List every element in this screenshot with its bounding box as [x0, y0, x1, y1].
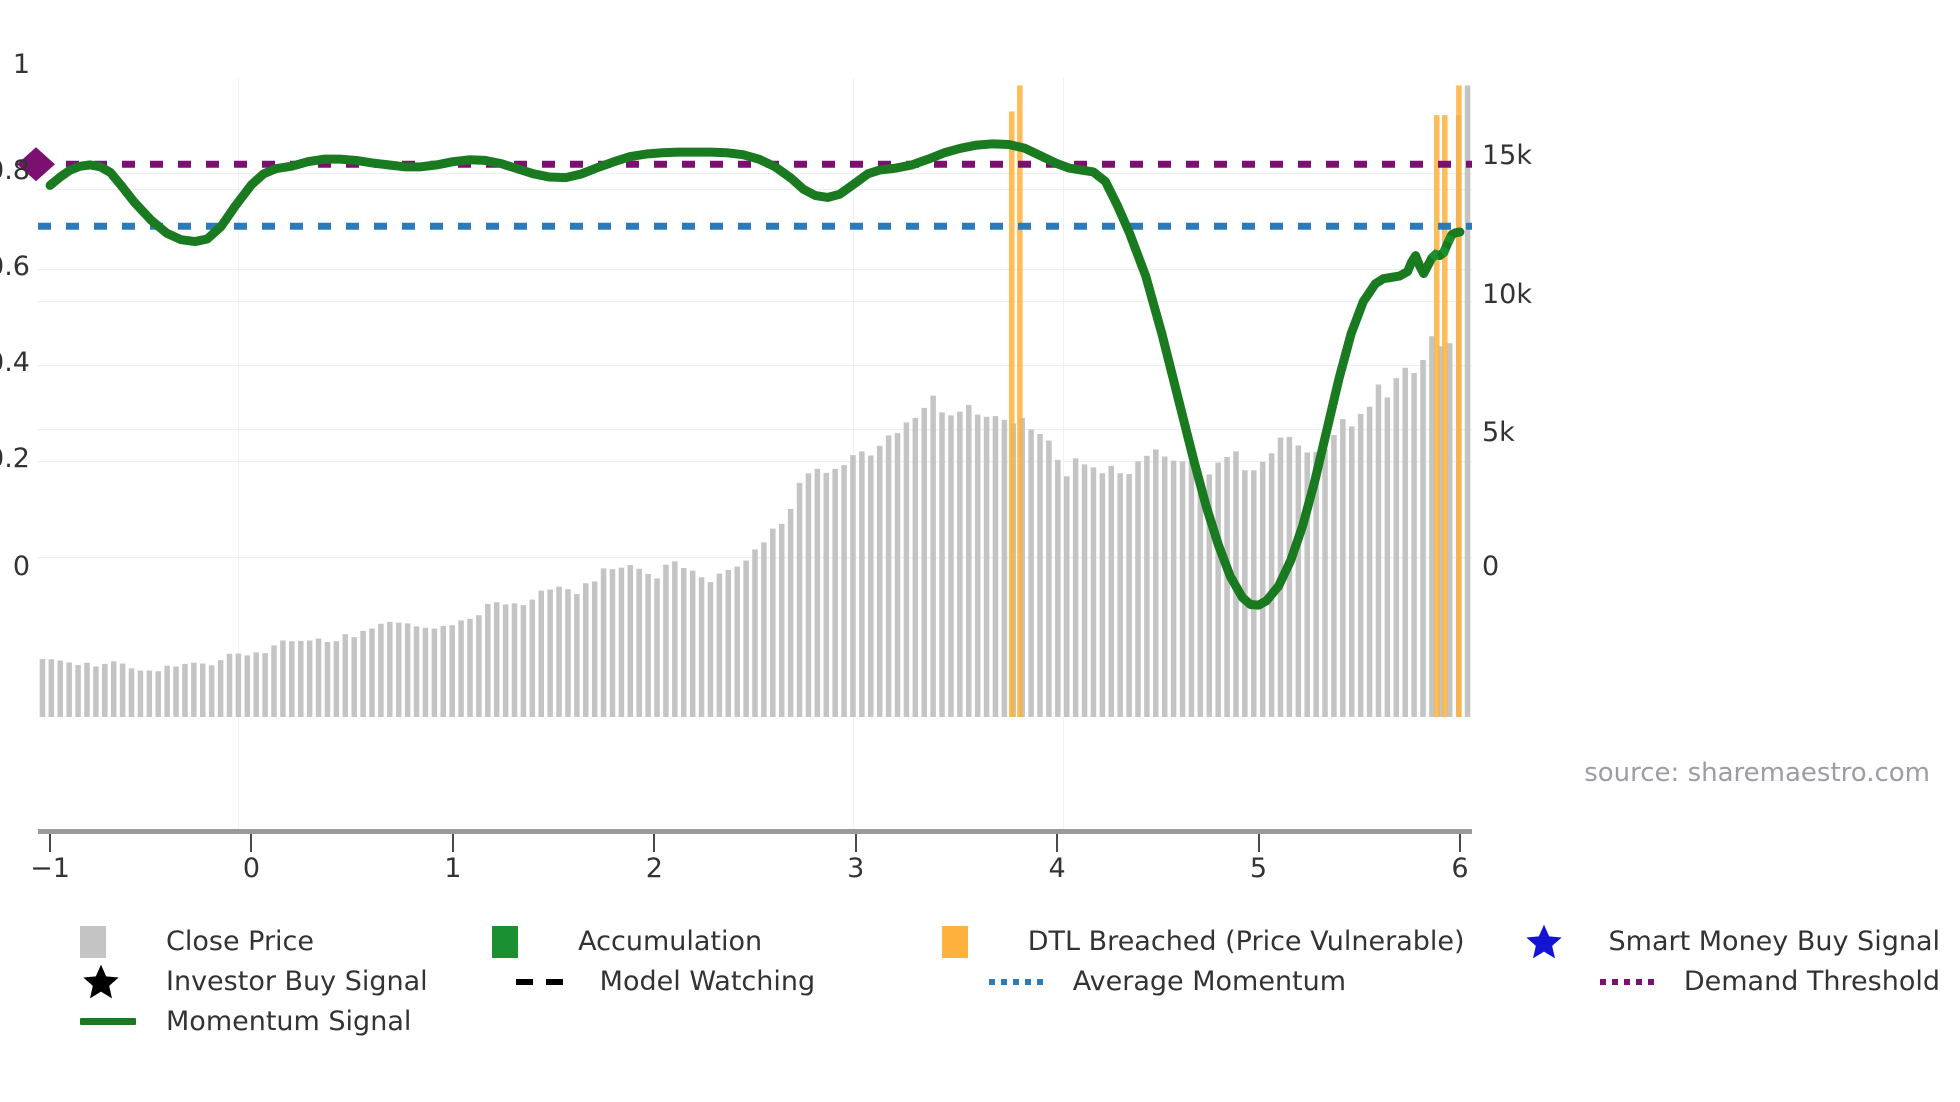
- star-icon: [80, 962, 166, 1002]
- close-price-bar: [815, 469, 821, 717]
- legend-label: Investor Buy Signal: [166, 968, 428, 995]
- x-axis-tick-label: 5: [1250, 855, 1267, 882]
- legend-row: Momentum Signal: [80, 1006, 1940, 1037]
- close-price-bar: [761, 542, 767, 717]
- close-price-bar: [654, 578, 660, 717]
- momentum-signal-line: [50, 144, 1460, 605]
- close-price-bar: [752, 549, 758, 717]
- close-price-bar: [102, 664, 108, 717]
- close-price-bar: [726, 570, 732, 717]
- y-right-tick-label: 10k: [1482, 281, 1532, 308]
- close-price-bar: [779, 524, 785, 717]
- close-price-bar: [1215, 463, 1221, 717]
- close-price-bar: [984, 417, 990, 717]
- close-price-bar: [494, 602, 500, 717]
- close-price-bar: [200, 664, 206, 718]
- close-price-bar: [245, 655, 251, 717]
- close-price-bar: [1180, 461, 1186, 717]
- y-left-tick-label: 1: [0, 51, 30, 78]
- close-price-bar: [1100, 473, 1106, 717]
- close-price-bar: [1260, 462, 1266, 717]
- close-price-bar: [298, 641, 304, 717]
- legend-label: Average Momentum: [1073, 968, 1346, 995]
- legend-item-accumulation[interactable]: Accumulation: [492, 926, 942, 957]
- close-price-bar: [503, 604, 509, 717]
- x-axis-tick: [49, 834, 51, 852]
- close-price-bar: [1331, 435, 1337, 717]
- close-price-bar: [628, 565, 634, 717]
- close-price-bar: [1394, 378, 1400, 717]
- dtl-breached-swatch-icon: [942, 926, 1028, 958]
- close-price-bar: [138, 671, 144, 717]
- close-price-bar: [351, 637, 357, 717]
- x-axis-tick: [1258, 834, 1260, 852]
- dtl-breached-band: [1434, 115, 1440, 717]
- x-axis-tick-label: −1: [30, 855, 70, 882]
- close-price-bar: [289, 641, 295, 717]
- close-price-bar: [1055, 460, 1061, 717]
- close-price-bar: [699, 577, 705, 717]
- close-price-bar: [253, 652, 259, 717]
- close-price-bar: [610, 569, 616, 717]
- dotted-line-icon: [1598, 976, 1684, 988]
- close-price-bar: [334, 641, 340, 717]
- close-price-bar: [191, 663, 197, 717]
- close-price-bar: [823, 473, 829, 717]
- close-price-bar: [271, 645, 277, 717]
- y-right-tick-label: 0: [1482, 553, 1499, 580]
- close-price-bar: [681, 568, 687, 717]
- close-price-bar: [1367, 407, 1373, 717]
- legend-label: Model Watching: [600, 968, 815, 995]
- close-price-bar: [66, 662, 72, 717]
- close-price-bar: [1046, 441, 1052, 717]
- close-price-bar: [904, 422, 910, 717]
- close-price-bar: [601, 568, 607, 717]
- legend-item-momentum-signal[interactable]: Momentum Signal: [80, 1006, 520, 1037]
- close-price-bar: [236, 653, 242, 717]
- close-price-bar: [512, 603, 518, 717]
- dtl-breached-band: [1009, 111, 1015, 717]
- close-price-bar: [1420, 360, 1426, 717]
- close-price-bar: [1376, 385, 1382, 718]
- close-price-bar: [325, 642, 331, 717]
- close-price-bar: [1064, 476, 1070, 717]
- close-price-swatch-icon: [80, 926, 166, 958]
- y-left-tick-label: 0.2: [0, 445, 30, 472]
- x-axis-tick-label: 4: [1049, 855, 1066, 882]
- x-axis-tick: [250, 834, 252, 852]
- close-price-bar: [530, 600, 536, 717]
- close-price-bar: [957, 412, 963, 717]
- close-price-bar: [690, 571, 696, 717]
- close-price-bar: [405, 623, 411, 717]
- close-price-bar: [645, 574, 651, 717]
- close-price-bar: [1171, 461, 1177, 717]
- close-price-bar: [574, 594, 580, 717]
- dtl-breached-band: [1442, 115, 1448, 717]
- close-price-bar: [93, 666, 99, 717]
- close-price-bar: [396, 623, 402, 717]
- close-price-bar: [307, 640, 313, 717]
- dtl-breached-band: [1456, 85, 1462, 717]
- close-price-bar: [734, 567, 740, 717]
- x-axis-tick: [855, 834, 857, 852]
- y-left-tick-label: 0.6: [0, 253, 30, 280]
- legend-item-model-watching[interactable]: Model Watching: [514, 966, 987, 997]
- close-price-bar: [49, 659, 55, 717]
- close-price-bar: [708, 582, 714, 717]
- x-axis-tick-label: 3: [847, 855, 864, 882]
- close-price-bar: [1411, 373, 1417, 717]
- close-price-bar: [1224, 457, 1230, 717]
- close-price-bar: [227, 654, 233, 717]
- close-price-bar: [619, 568, 625, 717]
- close-price-bar: [547, 590, 553, 717]
- close-price-bar: [155, 671, 161, 717]
- close-price-bar: [672, 561, 678, 717]
- legend-label: Close Price: [166, 928, 314, 955]
- close-price-bar: [449, 625, 455, 717]
- close-price-bar: [832, 469, 838, 717]
- close-price-bar: [182, 664, 188, 717]
- close-price-bar: [360, 631, 366, 717]
- close-price-bar: [369, 629, 375, 717]
- close-price-bar: [387, 622, 393, 717]
- close-price-bar: [841, 465, 847, 717]
- star-icon: [1523, 922, 1609, 962]
- source-attribution: source: sharemaestro.com: [1584, 760, 1930, 786]
- close-price-bar: [592, 581, 598, 717]
- x-axis-tick-label: 6: [1451, 855, 1468, 882]
- legend-row: Close Price Accumulation DTL Breached (P…: [80, 926, 1940, 957]
- close-price-bar: [806, 473, 812, 717]
- dtl-breached-band: [1017, 85, 1023, 717]
- close-price-bar: [868, 455, 874, 717]
- x-axis-tick: [1459, 834, 1461, 852]
- close-price-bar: [1126, 474, 1132, 717]
- close-price-bar: [788, 509, 794, 717]
- close-price-bar: [1296, 445, 1302, 717]
- y-left-tick-label: 0: [0, 553, 30, 580]
- y-left-tick-label: 0.8: [0, 157, 30, 184]
- close-price-bar: [280, 640, 286, 717]
- y-left-tick-label: 0.4: [0, 349, 30, 376]
- close-price-bar: [343, 634, 349, 717]
- close-price-bar: [1117, 473, 1123, 717]
- close-price-bar: [538, 591, 544, 717]
- chart-root: 1 0.8 0.6 0.4 0.2 0 15k 10k 5k 0 −101234…: [0, 0, 1960, 1102]
- close-price-bar: [467, 619, 473, 717]
- y-right-tick-label: 15k: [1482, 142, 1532, 169]
- close-price-bar: [1091, 467, 1097, 717]
- close-price-bar: [75, 665, 81, 717]
- close-price-bar: [1189, 461, 1195, 717]
- close-price-bar: [1322, 449, 1328, 717]
- close-price-bar: [173, 666, 179, 717]
- close-price-bar: [1198, 478, 1204, 717]
- close-price-bar: [850, 455, 856, 717]
- legend-label: DTL Breached (Price Vulnerable): [1028, 928, 1465, 955]
- close-price-bar: [218, 660, 224, 717]
- dotted-line-icon: [987, 976, 1073, 988]
- x-axis-tick-label: 0: [243, 855, 260, 882]
- close-price-bar: [414, 626, 420, 717]
- legend-item-average-momentum[interactable]: Average Momentum: [987, 966, 1598, 997]
- close-price-bar: [1037, 434, 1043, 717]
- legend-item-dtl-breached[interactable]: DTL Breached (Price Vulnerable): [942, 926, 1523, 957]
- x-axis-tick-label: 2: [646, 855, 663, 882]
- legend-row: Investor Buy Signal Model Watching Avera…: [80, 966, 1940, 997]
- x-axis-tick-label: 1: [444, 855, 461, 882]
- x-axis-tick: [1056, 834, 1058, 852]
- close-price-bar: [1002, 420, 1008, 717]
- y-right-tick-label: 5k: [1482, 419, 1515, 446]
- close-price-bar: [1135, 461, 1141, 717]
- close-price-bar: [975, 415, 981, 717]
- close-price-bar: [930, 396, 936, 717]
- x-axis-tick: [653, 834, 655, 852]
- close-price-bar: [1385, 398, 1391, 718]
- close-price-bar: [1028, 429, 1034, 717]
- close-price-bar: [432, 629, 438, 717]
- close-price-bar: [895, 433, 901, 717]
- close-price-bar: [797, 483, 803, 717]
- close-price-bar: [948, 415, 954, 717]
- legend-label: Smart Money Buy Signal: [1609, 928, 1941, 955]
- close-price-bar: [147, 671, 153, 717]
- close-price-bar: [316, 639, 322, 717]
- close-price-bar: [129, 668, 135, 717]
- close-price-bar: [111, 661, 117, 717]
- close-price-bar: [1269, 453, 1275, 717]
- close-price-bar: [209, 665, 215, 717]
- close-price-bar: [485, 604, 491, 717]
- close-price-bar: [1358, 414, 1364, 717]
- close-price-bar: [476, 615, 482, 717]
- close-price-bar: [40, 659, 46, 717]
- close-price-bar: [565, 589, 571, 717]
- close-price-bar: [636, 569, 642, 717]
- close-price-bar: [921, 408, 927, 717]
- close-price-bar: [1402, 368, 1408, 717]
- close-price-bar: [84, 663, 90, 717]
- close-price-bar: [743, 561, 749, 717]
- close-price-bar: [770, 529, 776, 717]
- close-price-bar: [556, 587, 562, 717]
- x-axis-tick: [452, 834, 454, 852]
- legend-label: Momentum Signal: [166, 1008, 411, 1035]
- close-price-bar: [458, 620, 464, 717]
- dashed-line-icon: [514, 976, 600, 988]
- close-price-bar: [966, 405, 972, 717]
- close-price-bar: [1447, 343, 1453, 717]
- close-price-bar: [1429, 336, 1435, 717]
- close-price-bar: [1349, 426, 1355, 717]
- close-price-bar: [939, 412, 945, 717]
- close-price-bar: [1082, 464, 1088, 717]
- close-price-bar: [877, 446, 883, 717]
- legend-item-smart-money-buy-signal[interactable]: Smart Money Buy Signal: [1523, 926, 1941, 957]
- close-price-bar: [886, 435, 892, 717]
- close-price-bar: [164, 666, 170, 717]
- solid-line-icon: [80, 1018, 166, 1025]
- close-price-bar: [1153, 450, 1159, 717]
- close-price-bar: [663, 565, 669, 717]
- close-price-bar: [521, 605, 527, 717]
- legend-label: Demand Threshold: [1684, 968, 1940, 995]
- close-price-bar: [913, 418, 919, 717]
- close-price-bar: [993, 416, 999, 717]
- close-price-bar: [1162, 457, 1168, 717]
- close-price-bar: [1109, 466, 1115, 717]
- legend-item-investor-buy-signal[interactable]: Investor Buy Signal: [80, 966, 514, 997]
- close-price-bar: [1251, 470, 1257, 717]
- close-price-bar: [717, 574, 723, 717]
- close-price-bar: [859, 451, 865, 717]
- legend-label: Accumulation: [578, 928, 762, 955]
- close-price-bar: [262, 653, 268, 717]
- legend-item-close-price[interactable]: Close Price: [80, 926, 492, 957]
- close-price-bar: [441, 626, 447, 717]
- accumulation-swatch-icon: [492, 926, 578, 958]
- chart-legend: Close Price Accumulation DTL Breached (P…: [80, 926, 1940, 1046]
- close-price-bar: [58, 661, 64, 717]
- close-price-bar: [1073, 458, 1079, 717]
- close-price-bar: [583, 583, 589, 717]
- legend-item-demand-threshold[interactable]: Demand Threshold: [1598, 966, 1940, 997]
- close-price-bar: [120, 664, 126, 718]
- close-price-bar: [1465, 85, 1471, 717]
- close-price-bar: [1144, 456, 1150, 717]
- close-price-bar: [423, 628, 429, 717]
- close-price-bar: [1340, 419, 1346, 717]
- close-price-bar: [378, 624, 384, 717]
